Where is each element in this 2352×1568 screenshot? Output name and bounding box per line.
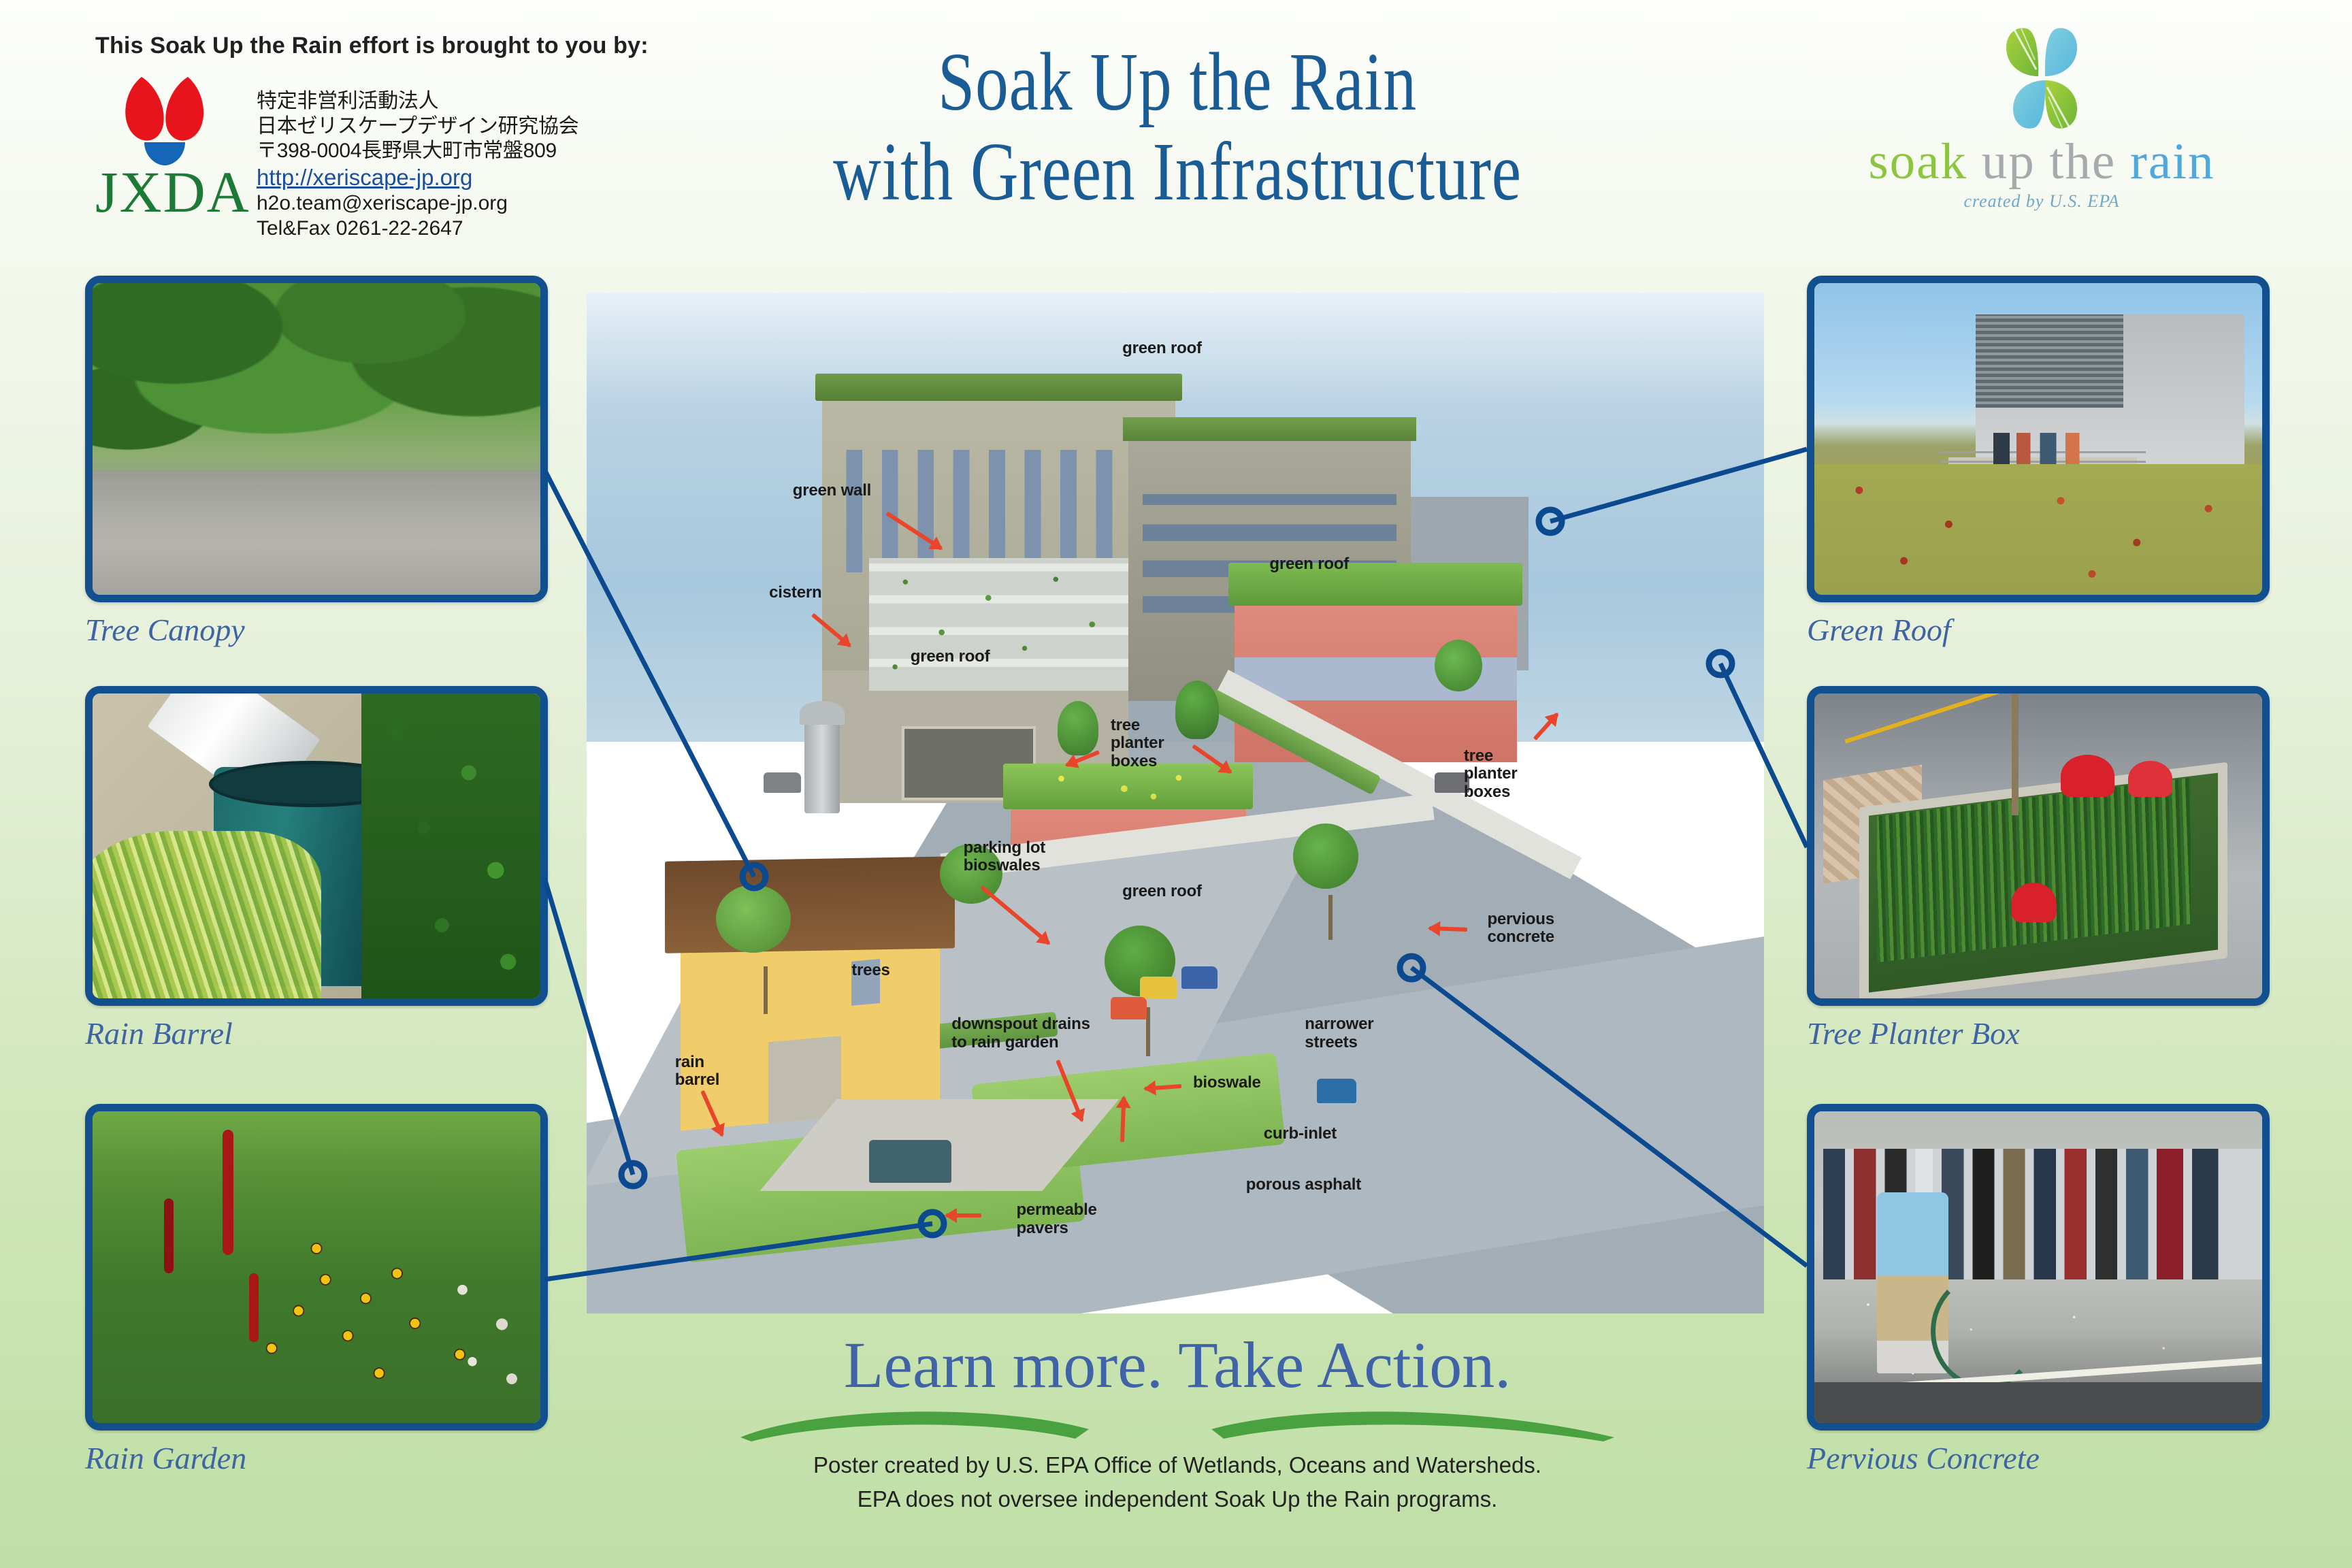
photo-caption: Tree Planter Box <box>1807 1015 2270 1051</box>
poster-root: This Soak Up the Rain effort is brought … <box>0 0 2352 1568</box>
label-narrower-streets: narrower streets <box>1305 1015 1373 1052</box>
green-wall-structure <box>869 558 1128 691</box>
label-porous-asphalt: porous asphalt <box>1246 1176 1361 1194</box>
photo-tree-planter-box <box>1814 693 2262 998</box>
logo-word-soak: soak <box>1869 133 1967 190</box>
soak-up-the-rain-wordmark: soak up the rain <box>1810 136 2273 187</box>
label-downspout: downspout drains to rain garden <box>951 1015 1090 1052</box>
photo-pervious-concrete <box>1814 1111 2262 1423</box>
photo-tree-canopy <box>93 283 540 595</box>
arrow-pervious-concrete <box>1429 926 1467 932</box>
jxda-website-link[interactable]: http://xeriscape-jp.org <box>257 164 578 191</box>
credit-line: This Soak Up the Rain effort is brought … <box>95 33 649 59</box>
street-tree <box>1175 681 1219 739</box>
label-tree-planter-boxes-left: tree planter boxes <box>1111 717 1164 772</box>
title-line-2: with Green Infrastructure <box>780 127 1575 217</box>
logo-word-rain: rain <box>2130 133 2215 190</box>
pinwheel-leaf-droplet-icon <box>1974 20 2110 136</box>
call-to-action: Learn more. Take Action. <box>694 1327 1661 1403</box>
photo-card-green-roof: Green Roof <box>1807 276 2270 648</box>
tree-trunk <box>1328 895 1333 940</box>
photo-green-roof <box>1814 283 2262 595</box>
photo-caption: Green Roof <box>1807 612 2270 648</box>
photo-caption: Tree Canopy <box>85 612 548 648</box>
green-infrastructure-illustration: green roof green wall cistern green roof… <box>587 293 1764 1313</box>
label-curb-inlet: curb-inlet <box>1264 1125 1337 1143</box>
photo-card-tree-planter-box: Tree Planter Box <box>1807 686 2270 1051</box>
photo-card-rain-garden: Rain Garden <box>85 1104 548 1476</box>
street-tree <box>1435 640 1482 691</box>
label-tree-planter-boxes-right: tree planter boxes <box>1464 747 1518 802</box>
cistern-tank <box>804 721 840 813</box>
street-tree <box>716 885 791 953</box>
photo-frame <box>85 686 548 1006</box>
jxda-phone: Tel&Fax 0261-22-2647 <box>257 216 578 242</box>
title-line-1: Soak Up the Rain <box>938 36 1417 128</box>
jxda-address: 〒398-0004長野県大町市常盤809 <box>257 139 578 164</box>
street-tree <box>1058 701 1098 755</box>
label-green-roof-red-building: green roof <box>1269 555 1349 574</box>
jxda-wordmark: JXDA <box>95 165 242 220</box>
footer-note: Poster created by U.S. EPA Office of Wet… <box>653 1448 1701 1516</box>
jxda-logo: JXDA <box>95 71 242 220</box>
soak-up-the-rain-logo: soak up the rain created by U.S. EPA <box>1810 20 2273 212</box>
photo-frame <box>1807 276 2270 602</box>
parked-car <box>1111 997 1147 1019</box>
jxda-org-name: 日本ゼリスケープデザイン研究協会 <box>257 114 578 140</box>
jxda-contact-info: 特定非営利活動法人 日本ゼリスケープデザイン研究協会 〒398-0004長野県大… <box>257 71 578 241</box>
jxda-sponsor-block: JXDA 特定非営利活動法人 日本ゼリスケープデザイン研究協会 〒398-000… <box>95 71 578 241</box>
logo-word-upthe: up the <box>1982 133 2116 190</box>
page-title: Soak Up the Rain with Green Infrastructu… <box>780 37 1575 217</box>
street-car <box>1317 1079 1357 1103</box>
jxda-droplet-icon <box>102 71 238 170</box>
label-rain-barrel: rain barrel <box>675 1053 720 1090</box>
label-green-roof-lot: green roof <box>1122 883 1202 901</box>
photo-rain-barrel <box>93 693 540 998</box>
photo-caption: Rain Barrel <box>85 1015 548 1051</box>
label-bioswale: bioswale <box>1193 1074 1261 1092</box>
label-green-roof-top: green roof <box>1122 340 1202 358</box>
photo-frame <box>85 276 548 602</box>
street-tree <box>1293 823 1358 889</box>
tree-trunk <box>764 966 768 1014</box>
photo-frame <box>1807 1104 2270 1431</box>
swoosh-decoration <box>735 1402 1620 1443</box>
label-green-roof-wall-building: green roof <box>911 648 990 666</box>
photo-card-pervious-concrete: Pervious Concrete <box>1807 1104 2270 1476</box>
footer-line-1: Poster created by U.S. EPA Office of Wet… <box>653 1448 1701 1482</box>
arrow-permeable-pavers <box>946 1213 981 1218</box>
label-parking-lot-bioswales: parking lot bioswales <box>964 839 1045 876</box>
photo-rain-garden <box>93 1111 540 1423</box>
jxda-org-type: 特定非営利活動法人 <box>257 89 578 114</box>
label-cistern: cistern <box>769 584 821 602</box>
parked-car <box>869 1140 951 1183</box>
photo-caption: Rain Garden <box>85 1440 548 1476</box>
street-car <box>764 772 801 793</box>
label-trees: trees <box>851 962 889 980</box>
label-pervious-concrete: pervious concrete <box>1487 911 1554 947</box>
photo-frame <box>85 1104 548 1431</box>
footer-line-2: EPA does not oversee independent Soak Up… <box>653 1482 1701 1516</box>
photo-card-tree-canopy: Tree Canopy <box>85 276 548 648</box>
photo-caption: Pervious Concrete <box>1807 1440 2270 1476</box>
photo-card-rain-barrel: Rain Barrel <box>85 686 548 1051</box>
logo-tagline: created by U.S. EPA <box>1810 191 2273 212</box>
jxda-email: h2o.team@xeriscape-jp.org <box>257 191 578 216</box>
photo-frame <box>1807 686 2270 1006</box>
parked-car <box>1181 966 1218 989</box>
label-green-wall: green wall <box>793 482 871 500</box>
label-permeable-pavers: permeable pavers <box>1016 1201 1096 1238</box>
parked-car <box>1140 977 1177 999</box>
